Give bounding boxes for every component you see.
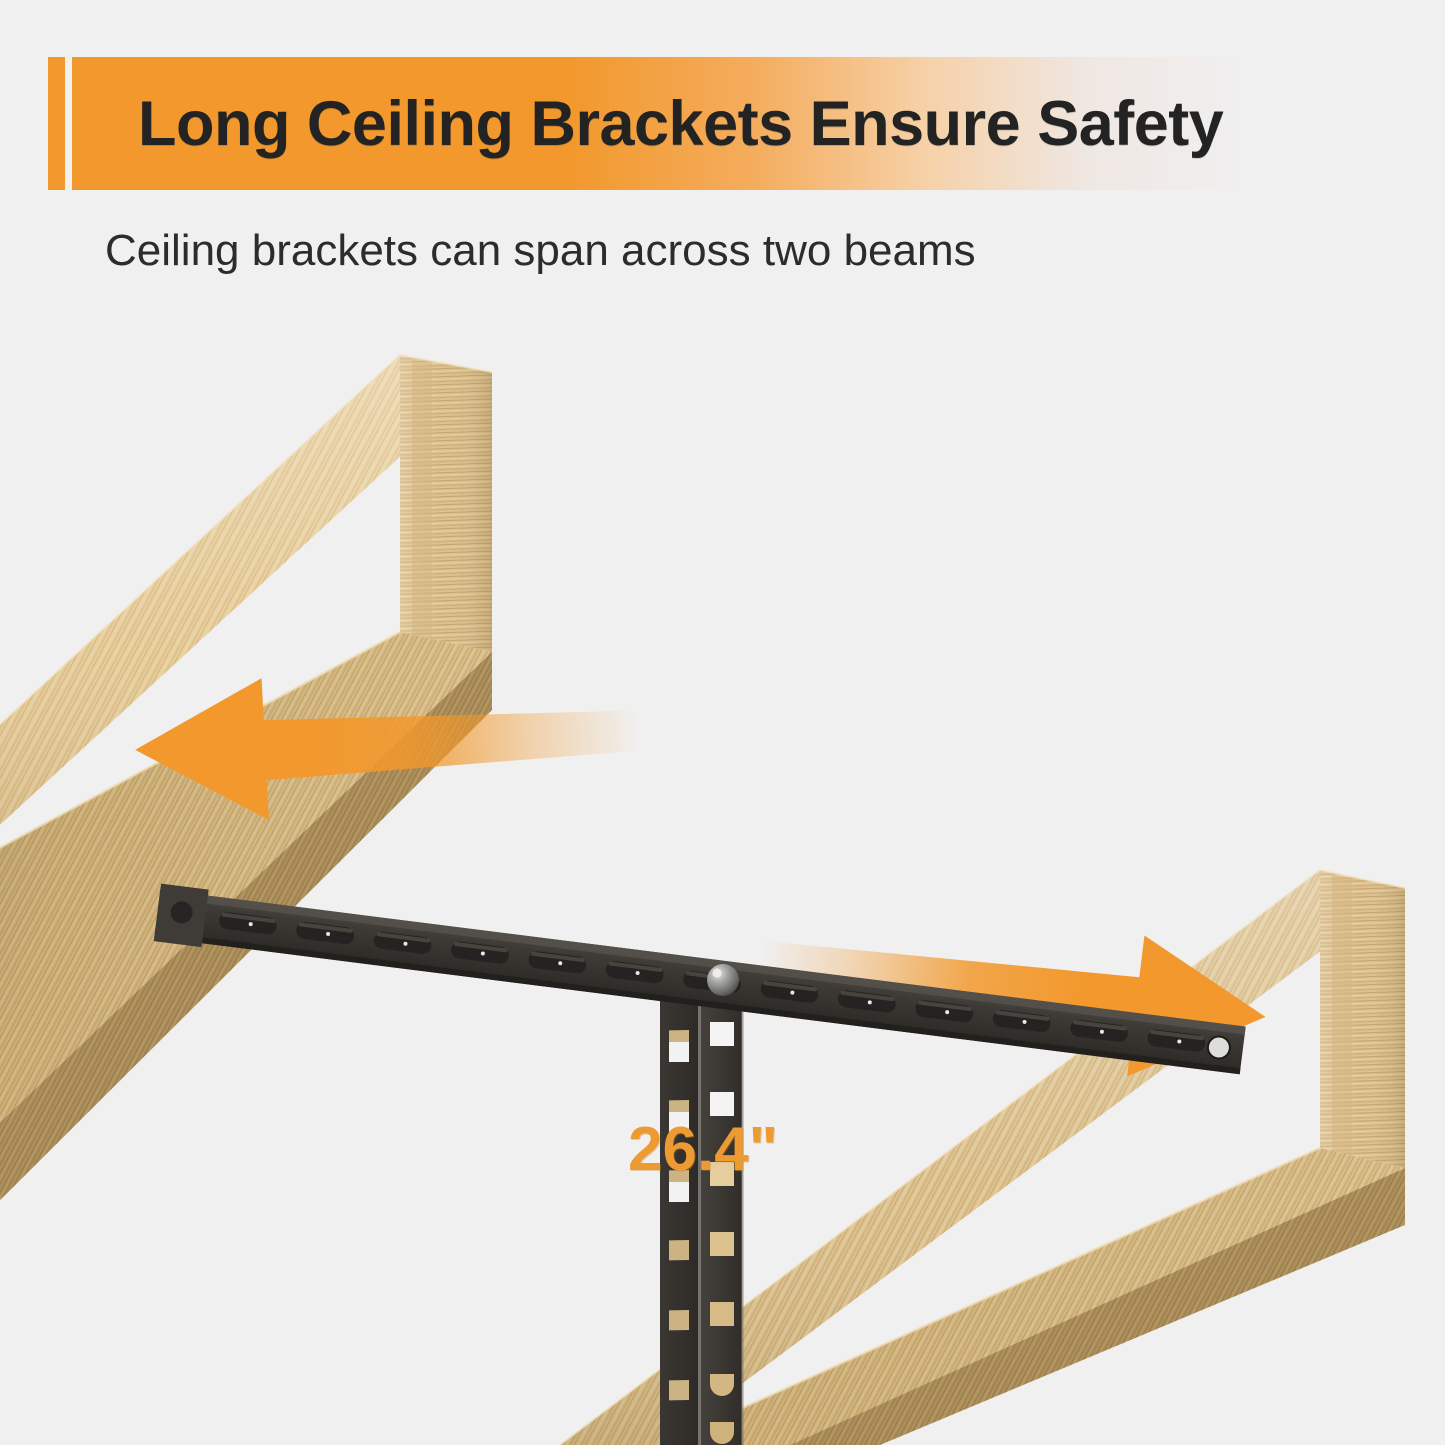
page-subtitle: Ceiling brackets can span across two bea… (105, 226, 976, 276)
header: Long Ceiling Brackets Ensure Safety Ceil… (0, 0, 1445, 300)
product-feature-image: Long Ceiling Brackets Ensure Safety Ceil… (0, 0, 1445, 1445)
header-accent-bar (48, 57, 65, 190)
vertical-post (660, 990, 744, 1445)
illustration: 26.4" (0, 300, 1445, 1445)
center-bolt (707, 964, 739, 996)
page-title: Long Ceiling Brackets Ensure Safety (138, 57, 1398, 190)
span-measurement-label: 26.4" (628, 1114, 778, 1185)
